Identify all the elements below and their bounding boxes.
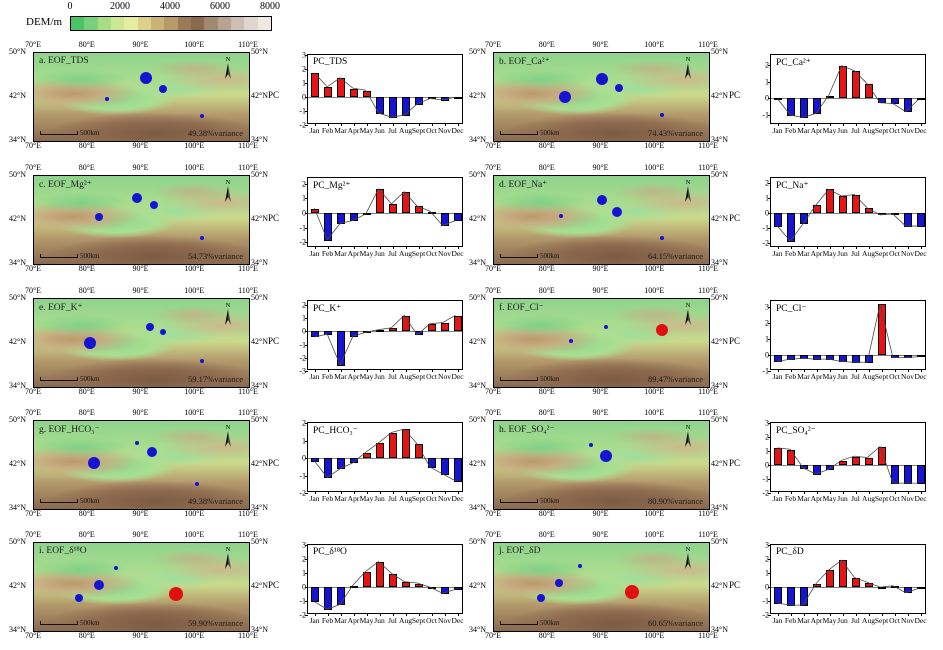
scale-bar-line (40, 377, 78, 381)
panel-row: 70°E80°E90°E100°E110°E70°E80°E90°E100°E1… (0, 163, 943, 283)
eof-map-panel: a. EOF_TDS49.38%variance500kmN (33, 52, 250, 142)
month-label: Feb (785, 372, 796, 381)
lat-tick-label: 34°N (711, 503, 728, 512)
x-axis-month-labels: JanFebMarAprMayJunJulAugSeptOctNovDec (770, 616, 926, 629)
north-arrow-icon: N (681, 57, 695, 80)
eof-map-panel: j. EOF_δD60.65%variance500kmN (493, 542, 710, 632)
lat-tick-label: 42°N (9, 91, 26, 100)
variance-label: 74.43%variance (648, 128, 703, 138)
colorbar-tick: 8000 (260, 1, 280, 12)
colorbar-tick: 0 (68, 1, 73, 12)
lat-tick-label: 42°N (251, 459, 268, 468)
chart-title: PC_Na⁺ (776, 180, 808, 191)
lat-tick-label: 42°N (469, 91, 486, 100)
month-label: Dec (914, 249, 926, 258)
month-label: Feb (322, 616, 333, 625)
lon-tick-label: 70°E (485, 408, 501, 417)
variance-label: 60.65%variance (648, 618, 703, 628)
lat-tick-label: 42°N (711, 459, 728, 468)
lon-tick-label: 70°E (485, 387, 501, 396)
lat-tick-label: 50°N (711, 47, 728, 56)
chart-title: PC_Cl⁻ (776, 303, 806, 314)
x-axis-month-labels: JanFebMarAprMayJunJulAugSeptOctNovDec (307, 494, 463, 507)
lon-tick-label: 100°E (644, 530, 664, 539)
scale-bar: 500km (500, 619, 559, 627)
lon-tick-label: 90°E (132, 163, 148, 172)
sampling-site-marker (200, 236, 204, 240)
sampling-site-marker (105, 97, 109, 101)
month-label: Apr (811, 126, 823, 135)
lat-tick-label: 50°N (711, 537, 728, 546)
pc-timeseries-chart: -2-10123PC_SO₄²⁻JanFebMarAprMayJunJulAug… (748, 420, 928, 508)
chart-title: PC_Ca²⁺ (776, 57, 811, 68)
variance-label: 59.17%variance (188, 374, 243, 384)
lon-axis-bottom-left: 70°E80°E90°E100°E110°E (33, 631, 248, 641)
scale-bar-line (40, 131, 78, 135)
month-label: Sept (412, 126, 425, 135)
lon-tick-label: 70°E (25, 509, 41, 518)
lat-tick-label: 50°N (9, 293, 26, 302)
pc-timeseries-chart: -1012PC_Ca²⁺JanFebMarAprMayJunJulAugSept… (748, 52, 928, 140)
month-label: Sept (412, 616, 425, 625)
lon-tick-label: 80°E (79, 40, 95, 49)
month-label: Nov (438, 249, 451, 258)
month-label: Aug (399, 249, 412, 258)
lat-tick-label: 42°N (469, 214, 486, 223)
sampling-site-marker (596, 73, 608, 85)
month-label: May (823, 372, 837, 381)
lon-tick-label: 100°E (644, 387, 664, 396)
pc-timeseries-chart: -2-1012PC_HCO₃⁻JanFebMarAprMayJunJulAugS… (285, 420, 465, 508)
month-label: Apr (811, 249, 823, 258)
lon-tick-label: 80°E (539, 163, 555, 172)
month-label: Jul (388, 372, 397, 381)
lon-tick-label: 90°E (592, 387, 608, 396)
sampling-site-marker (615, 84, 623, 92)
month-label: Jun (837, 372, 847, 381)
lat-tick-label: 50°N (251, 47, 268, 56)
lat-tick-label: 50°N (711, 415, 728, 424)
month-label: Mar (334, 249, 347, 258)
north-arrow-icon: N (681, 425, 695, 448)
lon-axis-bottom-left: 70°E80°E90°E100°E110°E (33, 509, 248, 519)
lat-tick-label: 34°N (9, 625, 26, 634)
lon-tick-label: 80°E (539, 40, 555, 49)
lat-tick-label: 34°N (469, 381, 486, 390)
colorbar-swatch-1 (84, 17, 97, 30)
month-label: Jul (388, 494, 397, 503)
sampling-site-marker (559, 214, 563, 218)
month-label: Nov (438, 372, 451, 381)
lat-tick-label: 34°N (711, 258, 728, 267)
month-label: Oct (426, 249, 437, 258)
lat-tick-label: 34°N (469, 503, 486, 512)
pc-axis-label: PC (729, 90, 740, 100)
month-label: Apr (348, 249, 360, 258)
month-label: Aug (862, 616, 875, 625)
sampling-site-marker (94, 580, 104, 590)
scale-bar-text: 500km (540, 497, 559, 505)
lon-tick-label: 100°E (644, 631, 664, 640)
lon-tick-label: 90°E (132, 509, 148, 518)
month-label: May (823, 616, 837, 625)
scale-bar-line (40, 621, 78, 625)
month-label: Mar (334, 616, 347, 625)
lon-axis-bottom-right: 70°E80°E90°E100°E110°E (493, 141, 708, 151)
month-label: Dec (914, 616, 926, 625)
scale-bar: 500km (500, 129, 559, 137)
sampling-site-marker (147, 447, 157, 457)
colorbar-ticks: 02000400060008000 (70, 1, 270, 15)
lon-axis-bottom-right: 70°E80°E90°E100°E110°E (493, 631, 708, 641)
lon-tick-label: 90°E (132, 387, 148, 396)
lon-tick-label: 70°E (25, 141, 41, 150)
lon-tick-label: 90°E (132, 408, 148, 417)
lat-tick-label: 50°N (251, 293, 268, 302)
month-label: Sept (412, 249, 425, 258)
pc-timeseries-chart: -2-10123PC_TDSJanFebMarAprMayJunJulAugSe… (285, 52, 465, 140)
chart-title: PC_K⁺ (313, 303, 341, 314)
lon-tick-label: 70°E (485, 141, 501, 150)
month-label: Feb (322, 249, 333, 258)
sampling-site-marker (660, 113, 664, 117)
sampling-site-marker (169, 587, 183, 601)
month-label: Apr (348, 372, 360, 381)
month-label: May (360, 249, 374, 258)
scale-bar-text: 500km (80, 497, 99, 505)
month-label: May (823, 494, 837, 503)
lon-tick-label: 80°E (79, 141, 95, 150)
colorbar-swatch-10 (204, 17, 217, 30)
north-arrow-glyph (681, 553, 695, 570)
lon-tick-label: 80°E (79, 530, 95, 539)
lat-tick-label: 42°N (469, 581, 486, 590)
north-arrow-glyph (221, 63, 235, 80)
month-label: Sept (875, 494, 888, 503)
eof-map-panel: f. EOF_Cl⁻89.47%variance500kmN (493, 298, 710, 388)
panel-row: 70°E80°E90°E100°E110°E70°E80°E90°E100°E1… (0, 408, 943, 528)
lon-tick-label: 100°E (184, 387, 204, 396)
month-label: Dec (451, 494, 463, 503)
lon-tick-label: 70°E (485, 40, 501, 49)
month-label: Jan (310, 126, 320, 135)
month-label: Oct (889, 372, 900, 381)
dem-colorbar: DEM/m 02000400060008000 (0, 0, 290, 38)
lon-tick-label: 90°E (592, 286, 608, 295)
month-label: Sept (412, 372, 425, 381)
variance-label: 49.38%variance (188, 496, 243, 506)
lon-axis-top-right: 70°E80°E90°E100°E110°E (493, 530, 708, 540)
lon-axis-bottom-right: 70°E80°E90°E100°E110°E (493, 264, 708, 274)
pc-axis-label: PC (268, 458, 279, 468)
month-label: Jan (773, 249, 783, 258)
lat-tick-label: 50°N (711, 170, 728, 179)
lon-tick-label: 70°E (25, 408, 41, 417)
north-arrow-icon: N (681, 180, 695, 203)
lon-tick-label: 80°E (539, 631, 555, 640)
pc-axis-label: PC (729, 458, 740, 468)
month-label: May (360, 616, 374, 625)
month-label: Jun (837, 616, 847, 625)
lon-tick-label: 80°E (79, 408, 95, 417)
lon-tick-label: 90°E (592, 264, 608, 273)
pc-timeseries-chart: -2-10123PC_δDJanFebMarAprMayJunJulAugSep… (748, 542, 928, 630)
lon-axis-bottom-right: 70°E80°E90°E100°E110°E (493, 509, 708, 519)
lat-tick-label: 34°N (9, 381, 26, 390)
scale-bar-line (500, 377, 538, 381)
lon-axis-top-right: 70°E80°E90°E100°E110°E (493, 163, 708, 173)
lat-tick-label: 42°N (469, 337, 486, 346)
map-panel-title: f. EOF_Cl⁻ (499, 302, 544, 313)
lon-tick-label: 100°E (644, 264, 664, 273)
lat-tick-label: 34°N (251, 503, 268, 512)
variance-label: 64.15%variance (648, 251, 703, 261)
scale-bar-text: 500km (540, 375, 559, 383)
month-label: Jun (374, 616, 384, 625)
lon-tick-label: 80°E (79, 631, 95, 640)
lat-tick-label: 34°N (711, 625, 728, 634)
figure-root: DEM/m 02000400060008000 70°E80°E90°E100°… (0, 0, 943, 642)
month-label: Aug (862, 126, 875, 135)
sampling-site-marker (95, 213, 103, 221)
month-label: Feb (785, 616, 796, 625)
map-panel-title: a. EOF_TDS (39, 56, 89, 66)
month-label: Jun (374, 126, 384, 135)
variance-label: 54.73%variance (188, 251, 243, 261)
lat-tick-label: 50°N (469, 537, 486, 546)
variance-label: 80.90%variance (648, 496, 703, 506)
lon-tick-label: 90°E (592, 631, 608, 640)
map-panel-title: c. EOF_Mg²⁺ (39, 179, 92, 190)
lon-tick-label: 70°E (25, 40, 41, 49)
sampling-site-marker (200, 359, 204, 363)
lat-tick-label: 34°N (711, 381, 728, 390)
lon-tick-label: 100°E (184, 530, 204, 539)
month-label: Dec (914, 126, 926, 135)
lon-tick-label: 80°E (79, 163, 95, 172)
scale-bar: 500km (40, 497, 99, 505)
scale-bar-text: 500km (80, 252, 99, 260)
scale-bar-text: 500km (80, 129, 99, 137)
pc-axis-label: PC (268, 580, 279, 590)
lon-tick-label: 80°E (539, 387, 555, 396)
lat-tick-label: 50°N (9, 170, 26, 179)
lat-tick-label: 42°N (711, 214, 728, 223)
lon-tick-label: 80°E (539, 286, 555, 295)
lon-tick-label: 90°E (592, 40, 608, 49)
lon-tick-label: 70°E (485, 163, 501, 172)
lon-tick-label: 100°E (644, 40, 664, 49)
variance-label: 89.47%variance (648, 374, 703, 384)
month-label: Apr (811, 616, 823, 625)
month-label: Jul (851, 616, 860, 625)
month-label: Jun (837, 249, 847, 258)
lat-tick-label: 50°N (9, 415, 26, 424)
month-label: Nov (901, 616, 914, 625)
month-label: Sept (875, 126, 888, 135)
lat-tick-label: 42°N (9, 214, 26, 223)
month-label: Aug (862, 372, 875, 381)
colorbar-tick: 6000 (210, 1, 230, 12)
sampling-site-marker (600, 450, 612, 462)
scale-bar-text: 500km (540, 252, 559, 260)
lon-tick-label: 80°E (79, 387, 95, 396)
sampling-site-marker (660, 236, 664, 240)
north-arrow-icon: N (221, 57, 235, 80)
month-label: Sept (412, 494, 425, 503)
north-arrow-glyph (681, 431, 695, 448)
lat-tick-label: 50°N (469, 293, 486, 302)
north-arrow-glyph (681, 309, 695, 326)
colorbar-swatch-4 (124, 17, 137, 30)
colorbar-tick: 2000 (110, 1, 130, 12)
month-label: Mar (797, 616, 810, 625)
lat-tick-label: 42°N (9, 459, 26, 468)
scale-bar: 500km (40, 375, 99, 383)
colorbar-label: DEM/m (26, 16, 62, 28)
month-label: Dec (451, 126, 463, 135)
scale-bar: 500km (40, 619, 99, 627)
month-label: Apr (348, 126, 360, 135)
lon-tick-label: 80°E (79, 509, 95, 518)
colorbar-swatch-7 (164, 17, 177, 30)
month-label: Mar (797, 494, 810, 503)
month-label: Mar (797, 126, 810, 135)
chart-title: PC_TDS (313, 57, 347, 67)
lon-tick-label: 70°E (25, 530, 41, 539)
month-label: Jul (851, 126, 860, 135)
panel-row: 70°E80°E90°E100°E110°E70°E80°E90°E100°E1… (0, 530, 943, 650)
sampling-site-marker (604, 325, 608, 329)
north-arrow-icon: N (221, 547, 235, 570)
colorbar-swatch-13 (244, 17, 257, 30)
pc-axis-label: PC (268, 213, 279, 223)
x-axis-month-labels: JanFebMarAprMayJunJulAugSeptOctNovDec (307, 372, 463, 385)
month-label: Aug (862, 249, 875, 258)
month-label: Jul (851, 249, 860, 258)
month-label: May (360, 126, 374, 135)
month-label: Feb (322, 494, 333, 503)
colorbar-tick: 4000 (160, 1, 180, 12)
lat-tick-label: 42°N (251, 581, 268, 590)
month-label: Oct (426, 126, 437, 135)
month-label: Jun (837, 126, 847, 135)
chart-title: PC_δ¹⁸O (313, 547, 347, 557)
lon-tick-label: 100°E (644, 163, 664, 172)
sampling-site-marker (75, 594, 83, 602)
month-label: Jul (388, 249, 397, 258)
month-label: Mar (334, 126, 347, 135)
lon-tick-label: 70°E (485, 286, 501, 295)
x-axis-month-labels: JanFebMarAprMayJunJulAugSeptOctNovDec (307, 126, 463, 139)
month-label: Nov (438, 494, 451, 503)
scale-bar: 500km (500, 252, 559, 260)
month-label: Aug (399, 616, 412, 625)
month-label: Jan (310, 249, 320, 258)
lon-tick-label: 90°E (592, 163, 608, 172)
lat-tick-label: 42°N (469, 459, 486, 468)
sampling-site-marker (589, 443, 593, 447)
pc-timeseries-chart: -3-2-1012PC_K⁺JanFebMarAprMayJunJulAugSe… (285, 298, 465, 386)
lon-tick-label: 100°E (184, 631, 204, 640)
lon-tick-label: 70°E (25, 387, 41, 396)
lat-tick-label: 34°N (251, 135, 268, 144)
eof-map-panel: g. EOF_HCO₃⁻49.38%variance500kmN (33, 420, 250, 510)
month-label: Sept (875, 372, 888, 381)
chart-title: PC_Mg²⁺ (313, 180, 350, 191)
month-label: Jun (837, 494, 847, 503)
lon-axis-top-left: 70°E80°E90°E100°E110°E (33, 163, 248, 173)
month-label: May (823, 249, 837, 258)
month-label: Jan (773, 372, 783, 381)
month-label: Nov (901, 126, 914, 135)
chart-title: PC_δD (776, 547, 804, 557)
lon-tick-label: 100°E (184, 141, 204, 150)
month-label: Oct (426, 616, 437, 625)
north-arrow-glyph (221, 553, 235, 570)
lon-tick-label: 70°E (485, 530, 501, 539)
lon-axis-bottom-left: 70°E80°E90°E100°E110°E (33, 141, 248, 151)
lat-tick-label: 50°N (469, 415, 486, 424)
sampling-site-marker (625, 585, 639, 599)
north-arrow-glyph (681, 63, 695, 80)
lat-tick-label: 34°N (9, 503, 26, 512)
scale-bar: 500km (500, 375, 559, 383)
pc-timeseries-chart: -2-1012PC_Mg²⁺JanFebMarAprMayJunJulAugSe… (285, 175, 465, 263)
north-arrow-glyph (221, 186, 235, 203)
colorbar-swatch-8 (178, 17, 191, 30)
map-panel-title: h. EOF_SO₄²⁻ (499, 424, 555, 435)
lon-tick-label: 70°E (25, 286, 41, 295)
month-label: Jan (773, 616, 783, 625)
month-label: Dec (451, 616, 463, 625)
lon-tick-label: 100°E (184, 509, 204, 518)
sampling-site-marker (559, 91, 571, 103)
sampling-site-marker (597, 195, 607, 205)
month-label: Aug (399, 494, 412, 503)
lon-tick-label: 90°E (132, 264, 148, 273)
lon-tick-label: 100°E (184, 264, 204, 273)
lon-tick-label: 90°E (132, 286, 148, 295)
month-label: Nov (901, 372, 914, 381)
map-panel-title: d. EOF_Na⁺ (499, 179, 547, 190)
month-label: Jun (374, 372, 384, 381)
lat-tick-label: 42°N (251, 337, 268, 346)
colorbar-swatch-2 (98, 17, 111, 30)
lon-tick-label: 70°E (25, 631, 41, 640)
lat-tick-label: 42°N (711, 581, 728, 590)
lon-tick-label: 100°E (644, 408, 664, 417)
colorbar-swatch-3 (111, 17, 124, 30)
month-label: Jan (773, 494, 783, 503)
x-axis-month-labels: JanFebMarAprMayJunJulAugSeptOctNovDec (770, 494, 926, 507)
month-label: Dec (451, 372, 463, 381)
north-arrow-glyph (681, 186, 695, 203)
sampling-site-marker (114, 566, 118, 570)
month-label: Oct (426, 372, 437, 381)
sampling-site-marker (578, 564, 582, 568)
lat-tick-label: 50°N (711, 293, 728, 302)
lon-tick-label: 100°E (184, 40, 204, 49)
lat-tick-label: 34°N (251, 625, 268, 634)
scale-bar-line (40, 499, 78, 503)
month-label: Apr (348, 616, 360, 625)
variance-label: 59.90%variance (188, 618, 243, 628)
lat-tick-label: 50°N (9, 537, 26, 546)
month-label: Jul (851, 494, 860, 503)
scale-bar-line (500, 254, 538, 258)
month-label: Jul (851, 372, 860, 381)
